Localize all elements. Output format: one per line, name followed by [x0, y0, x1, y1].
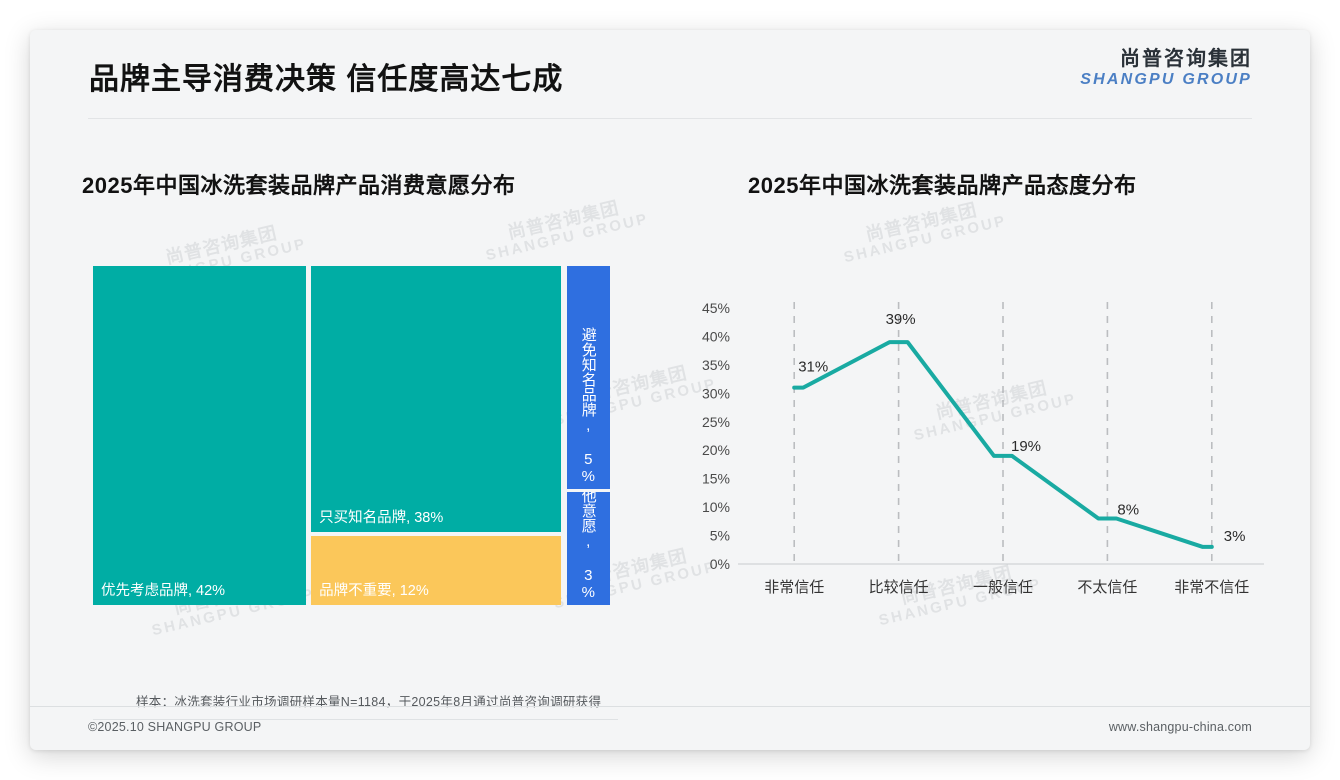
y-axis-tick-label: 35% — [702, 357, 730, 373]
y-axis-tick-label: 30% — [702, 385, 730, 401]
page-title: 品牌主导消费决策 信任度高达七成 — [89, 54, 563, 98]
treemap-cell-label: 优先考虑品牌, 42% — [101, 579, 225, 600]
brand-logo-en: SHANGPU GROUP — [1080, 71, 1252, 89]
footer-divider — [30, 706, 1310, 707]
watermark-cn: 尚普咨询集团 — [480, 192, 647, 249]
data-point-label: 8% — [1117, 501, 1139, 518]
treemap-cell-label: 避免知名品牌, 5% — [581, 327, 596, 485]
website-link[interactable]: www.shangpu-china.com — [1109, 720, 1252, 734]
treemap-cell[interactable]: 只买知名品牌, 38% — [311, 266, 561, 532]
treemap-cell-label: 品牌不重要, 12% — [319, 579, 429, 600]
brand-logo: 尚普咨询集团 SHANGPU GROUP — [1080, 48, 1252, 89]
treemap-cell-label: 只买知名品牌, 38% — [319, 506, 443, 527]
watermark-en: SHANGPU GROUP — [843, 213, 1009, 267]
x-axis-category-label: 非常信任 — [764, 579, 824, 596]
slide-header: 品牌主导消费决策 信任度高达七成 尚普咨询集团 SHANGPU GROUP — [30, 30, 1310, 118]
watermark-cn: 尚普咨询集团 — [838, 194, 1005, 251]
data-point-label: 3% — [1224, 528, 1246, 545]
watermark-en: SHANGPU GROUP — [485, 211, 651, 265]
x-axis-category-label: 非常不信任 — [1174, 579, 1249, 596]
treemap-cell[interactable]: 品牌不重要, 12% — [311, 536, 561, 605]
slide-footer: ©2025.10 SHANGPU GROUP www.shangpu-china… — [30, 706, 1310, 750]
y-axis-tick-label: 5% — [710, 528, 730, 544]
treemap-cell[interactable]: 其他意愿, 3% — [567, 492, 610, 605]
y-axis-tick-label: 40% — [702, 328, 730, 344]
treemap-cell[interactable]: 优先考虑品牌, 42% — [93, 266, 306, 605]
watermark: 尚普咨询集团 SHANGPU GROUP — [838, 194, 1009, 268]
x-axis-category-label: 不太信任 — [1077, 579, 1137, 596]
treemap-cell-label: 其他意愿, 3% — [581, 492, 596, 601]
x-axis-category-label: 一般信任 — [973, 579, 1033, 596]
treemap-cell[interactable]: 避免知名品牌, 5% — [567, 266, 610, 489]
y-axis-tick-label: 15% — [702, 471, 730, 487]
data-point-label: 39% — [886, 311, 916, 328]
right-chart-title: 2025年中国冰洗套装品牌产品态度分布 — [748, 168, 1136, 200]
line-chart: 0%5%10%15%20%25%30%35%40%45%31%39%19%8%3… — [670, 280, 1280, 620]
y-axis-tick-label: 45% — [702, 300, 730, 316]
treemap-chart: 优先考虑品牌, 42%只买知名品牌, 38%品牌不重要, 12%避免知名品牌, … — [93, 266, 610, 605]
x-axis-category-label: 比较信任 — [869, 578, 929, 596]
header-divider — [88, 118, 1252, 119]
line-chart-svg: 0%5%10%15%20%25%30%35%40%45%31%39%19%8%3… — [670, 280, 1280, 620]
watermark: 尚普咨询集团 SHANGPU GROUP — [480, 192, 651, 266]
y-axis-tick-label: 25% — [702, 414, 730, 430]
data-point-label: 31% — [798, 359, 828, 376]
y-axis-tick-label: 20% — [702, 442, 730, 458]
copyright-text: ©2025.10 SHANGPU GROUP — [88, 720, 261, 734]
y-axis-tick-label: 0% — [710, 556, 730, 572]
y-axis-tick-label: 10% — [702, 499, 730, 515]
left-chart-title: 2025年中国冰洗套装品牌产品消费意愿分布 — [82, 168, 515, 200]
slide-canvas: 尚普咨询集团 SHANGPU GROUP 尚普咨询集团 SHANGPU GROU… — [30, 30, 1310, 750]
brand-logo-cn: 尚普咨询集团 — [1080, 48, 1252, 71]
data-point-label: 19% — [1011, 438, 1041, 455]
